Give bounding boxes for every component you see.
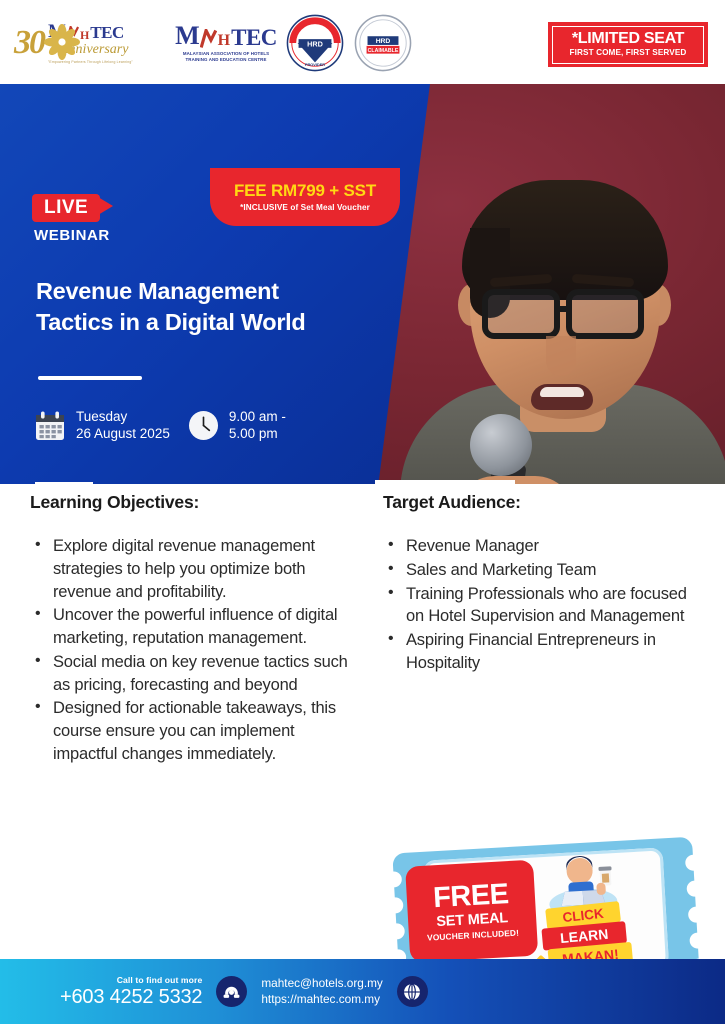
clock-icon	[188, 410, 219, 441]
event-time-text: 9.00 am - 5.00 pm	[229, 409, 286, 443]
learning-objectives-heading: Learning Objectives:	[30, 492, 360, 513]
hrd-corp-claimable-seal: HRD CLAIMABLE	[354, 14, 412, 72]
target-audience-list: Revenue Manager Sales and Marketing Team…	[383, 535, 703, 675]
list-item: Uncover the powerful influence of digita…	[30, 604, 360, 650]
hero-section: LIVE WEBINAR FEE RM799 + SST *INCLUSIVE …	[0, 84, 725, 484]
list-item: Explore digital revenue management strat…	[30, 535, 360, 603]
target-audience-heading: Target Audience:	[383, 492, 703, 513]
logo-header-bar: 30 M	[0, 0, 725, 84]
mahtec-letter-m: M	[175, 23, 199, 49]
free-meal-badge: FREE SET MEAL VOUCHER INCLUDED!	[405, 860, 538, 963]
anniversary-tagline: "Empowering Partners Through Lifelong Le…	[48, 60, 133, 64]
mahtec-subtitle: MALAYSIAN ASSOCIATION OF HOTELS TRAINING…	[176, 51, 276, 64]
limited-seat-badge: *LIMITED SEAT FIRST COME, FIRST SERVED	[548, 22, 708, 67]
contact-block: mahtec@hotels.org.my https://mahtec.com.…	[261, 976, 382, 1008]
voucher-free-text: FREE	[432, 881, 509, 913]
event-meta: Tuesday 26 August 2025 9.00 am - 5.00 pm	[34, 409, 286, 443]
phone-number[interactable]: +603 4252 5332	[60, 986, 202, 1008]
page-title: Revenue Management Tactics in a Digital …	[36, 276, 356, 338]
event-time-start: 9.00 am -	[229, 409, 286, 426]
mahtec-letter-h: H	[80, 29, 89, 41]
calendar-icon	[34, 410, 66, 442]
mahtec-letters-tec: TEC	[231, 26, 277, 49]
mahtec-wordmark: M H TEC	[175, 23, 277, 49]
svg-text:HRD: HRD	[307, 39, 323, 48]
logo-row: 30 M	[14, 14, 412, 72]
list-item: Social media on key revenue tactics such…	[30, 651, 360, 697]
learning-objectives-list: Explore digital revenue management strat…	[30, 535, 360, 766]
limited-seat-subtitle: FIRST COME, FIRST SERVED	[570, 49, 687, 57]
webinar-poster: 30 M	[0, 0, 725, 1024]
list-item: Revenue Manager	[383, 535, 703, 558]
fee-banner: FEE RM799 + SST *INCLUSIVE of Set Meal V…	[210, 168, 400, 226]
list-item: Aspiring Financial Entrepreneurs in Hosp…	[383, 629, 703, 675]
mahtec-30th-anniversary-logo: 30 M	[14, 14, 166, 72]
phone-block: Call to find out more +603 4252 5332	[60, 975, 202, 1008]
voucher-included-text: VOUCHER INCLUDED!	[427, 928, 519, 942]
event-time-end: 5.00 pm	[229, 426, 286, 443]
mahtec-logo: M H TEC MALAYSIAN ASSOCIATION OF HOTELS …	[176, 17, 276, 69]
svg-text:PROVIDER: PROVIDER	[305, 63, 325, 67]
webinar-label: WEBINAR	[34, 227, 110, 244]
anniversary-number: 30	[14, 26, 44, 60]
title-divider	[38, 376, 142, 380]
hrd-corp-registered-seal: HRD PROVIDER	[286, 14, 344, 72]
mahtec-letter-h: H	[218, 33, 230, 49]
phone-icon	[216, 976, 247, 1007]
svg-text:HRD: HRD	[376, 38, 391, 45]
live-label: LIVE	[32, 194, 100, 222]
mahtec-swoosh-icon	[200, 29, 217, 49]
live-webinar-badge: LIVE WEBINAR	[32, 194, 110, 244]
flower-icon	[44, 24, 80, 60]
list-item: Training Professionals who are focused o…	[383, 583, 703, 629]
event-day: Tuesday	[76, 409, 170, 426]
live-text: LIVE	[44, 197, 88, 218]
list-item: Sales and Marketing Team	[383, 559, 703, 582]
svg-text:CLAIMABLE: CLAIMABLE	[368, 48, 399, 54]
event-date-full: 26 August 2025	[76, 426, 170, 443]
mahtec-letters-tec: TEC	[90, 24, 123, 41]
contact-email[interactable]: mahtec@hotels.org.my	[261, 976, 382, 992]
globe-icon	[397, 976, 428, 1007]
call-label: Call to find out more	[60, 975, 202, 985]
contact-website[interactable]: https://mahtec.com.my	[261, 992, 382, 1008]
fee-note: *INCLUSIVE of Set Meal Voucher	[240, 203, 370, 212]
fee-amount: FEE RM799 + SST	[234, 182, 376, 199]
voucher-set-meal-text: SET MEAL	[436, 911, 508, 929]
target-audience-column: Target Audience: Revenue Manager Sales a…	[383, 492, 703, 676]
event-date-text: Tuesday 26 August 2025	[76, 409, 170, 443]
limited-seat-title: *LIMITED SEAT	[572, 31, 684, 47]
event-time: 9.00 am - 5.00 pm	[188, 409, 286, 443]
play-triangle-icon	[98, 197, 113, 215]
event-date: Tuesday 26 August 2025	[34, 409, 170, 443]
footer-contact-bar: Call to find out more +603 4252 5332 mah…	[0, 959, 725, 1024]
learning-objectives-column: Learning Objectives: Explore digital rev…	[30, 492, 360, 767]
list-item: Designed for actionable takeaways, this …	[30, 697, 360, 765]
